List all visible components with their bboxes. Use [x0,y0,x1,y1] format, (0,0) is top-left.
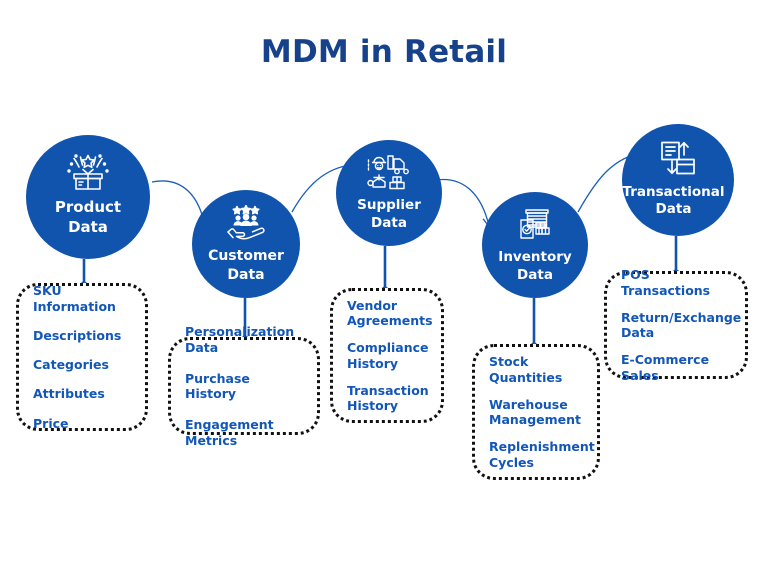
list-item: Compliance History [347,340,427,371]
list-item: Descriptions [33,328,131,343]
list-item: Return/Exchange Data [621,310,731,341]
node-transactional-label-line1: Transactional [623,184,725,200]
list-box-transactional-data: POS Transactions Return/Exchange Data E-… [604,271,748,379]
arc-supplier-to-inventory [436,179,489,226]
list-item: POS Transactions [621,267,731,298]
node-customer-label-line1: Customer [208,248,284,264]
node-product-data[interactable]: Product Data [26,135,150,259]
list-item: Engagement Metrics [185,417,303,448]
list-box-product-data: SKU Information Descriptions Categories … [16,283,148,431]
list-item: Categories [33,357,131,372]
node-customer-data[interactable]: Customer Data [192,190,300,298]
worker-truck-boxes-icon [366,155,412,195]
node-supplier-label: Supplier Data [357,197,421,233]
list-item: Vendor Agreements [347,298,427,329]
list-box-inventory-data: Stock Quantities Warehouse Management Re… [472,344,600,480]
receipt-card-exchange-icon [656,140,700,182]
list-item: Attributes [33,386,131,401]
list-item: Personalization Data [185,324,303,355]
node-product-label: Product Data [55,198,121,238]
node-inventory-data[interactable]: Inventory Data [482,192,588,298]
node-transactional-data[interactable]: Transactional Data [622,124,734,236]
list-box-customer-data: Personalization Data Purchase History En… [168,337,320,435]
node-product-label-line1: Product [55,198,121,216]
page-title: MDM in Retail [0,34,768,70]
open-box-sparkle-icon [65,152,111,196]
node-product-label-line2: Data [68,218,108,236]
node-inventory-label: Inventory Data [498,249,571,285]
node-customer-label-line2: Data [227,267,264,283]
list-item: E-Commerce Sales [621,352,731,383]
list-item: Replenishment Cycles [489,439,583,470]
infographic-canvas: MDM in Retail [0,0,768,576]
node-inventory-label-line2: Data [517,267,553,283]
node-customer-label: Customer Data [208,247,284,284]
node-supplier-label-line1: Supplier [357,197,421,213]
list-item: Stock Quantities [489,354,583,385]
list-item: Purchase History [185,371,303,402]
list-item: Warehouse Management [489,397,583,428]
list-box-supplier-data: Vendor Agreements Compliance History Tra… [330,288,444,423]
list-item: Price [33,416,131,431]
warehouse-clipboard-boxes-icon [512,207,558,247]
hand-holding-people-stars-icon [224,205,268,245]
node-transactional-label: Transactional Data [609,184,739,220]
node-inventory-label-line1: Inventory [498,249,571,265]
list-item: Transaction History [347,383,427,414]
node-transactional-label-line2: Data [656,201,692,217]
list-item: SKU Information [33,283,131,314]
node-supplier-data[interactable]: Supplier Data [336,140,442,246]
node-supplier-label-line2: Data [371,215,407,231]
